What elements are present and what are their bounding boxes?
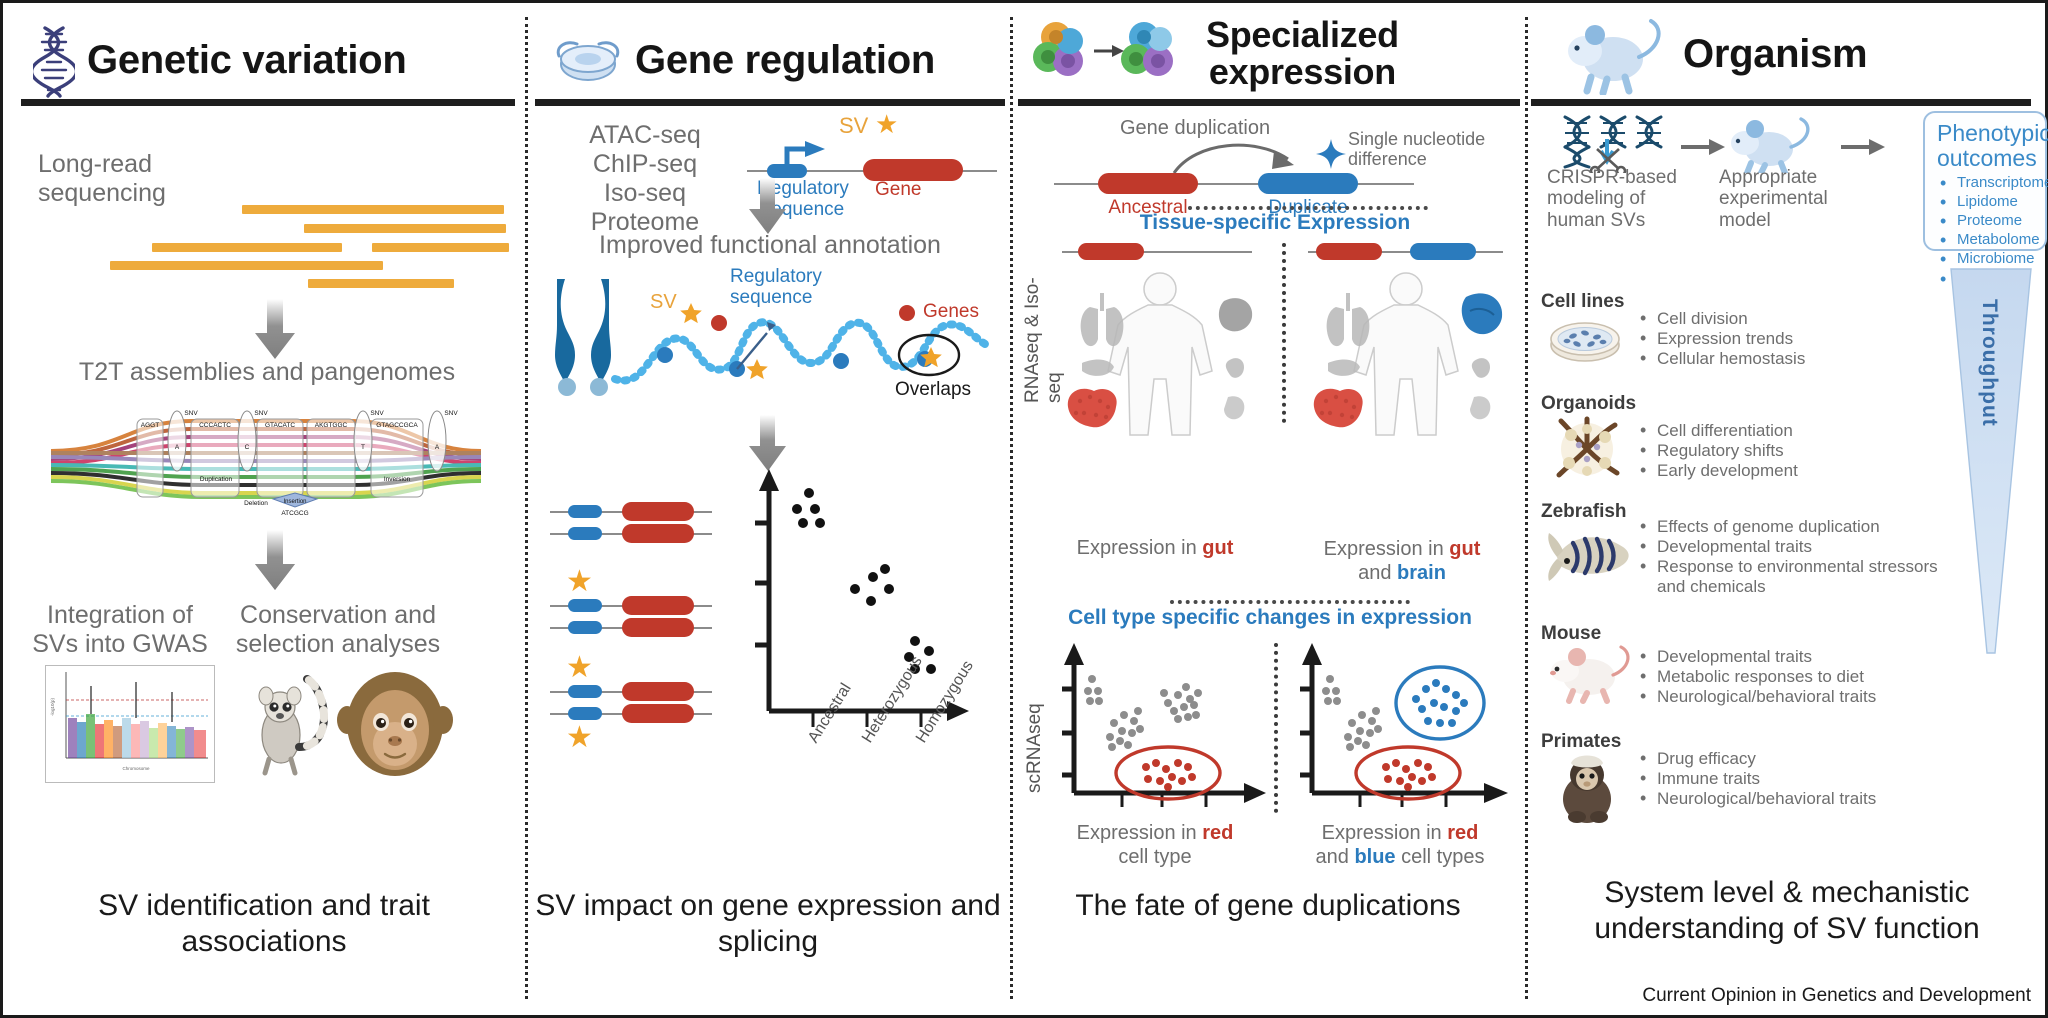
sv-star-hom-2: ★ bbox=[566, 723, 593, 753]
assay-atac-seq: ATAC-seq bbox=[555, 121, 735, 150]
celltype-specific-header: Cell type specific changes in expression bbox=[1030, 606, 1510, 630]
svg-text:Chromosome: Chromosome bbox=[122, 766, 150, 771]
list-item: Metabolic responses to diet bbox=[1637, 667, 1967, 687]
right-celltype-caption: Expression in red and blue cell types bbox=[1282, 821, 1518, 869]
panel-2-title: Gene regulation bbox=[635, 40, 935, 81]
ancestral-gene-box bbox=[1098, 173, 1198, 194]
system-items: Drug efficacy Immune traits Neurological… bbox=[1637, 749, 1967, 809]
svg-text:Inversion: Inversion bbox=[384, 476, 411, 483]
svg-text:SNV: SNV bbox=[444, 410, 458, 417]
step-long-read-sequencing: Long-read sequencing bbox=[38, 150, 238, 208]
panel-3-title-line2: expression bbox=[1206, 53, 1399, 90]
system-items: Effects of genome duplication Developmen… bbox=[1637, 517, 1967, 597]
snv-sparkle-icon bbox=[1316, 139, 1346, 169]
list-item: Developmental traits bbox=[1637, 647, 1967, 667]
arrow-to-gwas bbox=[248, 530, 302, 592]
list-item: Neurological/behavioral traits bbox=[1637, 789, 1967, 809]
cell-cluster-icon bbox=[1030, 15, 1190, 91]
svg-text:AKGTGGC: AKGTGGC bbox=[315, 422, 348, 429]
phenotypic-outcomes-box: Phenotypic outcomes Transcriptome Lipido… bbox=[1923, 111, 2047, 251]
sv-label-chromatin: SV bbox=[650, 291, 677, 314]
svg-text:SNV: SNV bbox=[184, 410, 198, 417]
flow-arrow-2-icon bbox=[1841, 137, 1885, 157]
arrow-to-annotation bbox=[743, 178, 793, 236]
flow-arrow-1-icon bbox=[1681, 137, 1725, 157]
panel-3-rule bbox=[1018, 99, 1520, 106]
list-item: Lipidome bbox=[1937, 192, 2033, 211]
system-items: Developmental traits Metabolic responses… bbox=[1637, 647, 1967, 707]
human-body-left-icon bbox=[1052, 267, 1267, 437]
organoid-icon bbox=[1547, 413, 1627, 483]
pangenome-graph: AGGT CCCACTC GTACATC AKGTGGC GTAGCCGCA S… bbox=[51, 393, 481, 521]
mouse-icon bbox=[1561, 15, 1671, 95]
panel-genetic-variation: Genetic variation Long-read sequencing bbox=[3, 3, 525, 1015]
tissue-column-divider bbox=[1282, 243, 1286, 423]
macaque-icon bbox=[333, 658, 458, 783]
lemur-icon bbox=[233, 663, 343, 783]
gene-box-top bbox=[863, 159, 963, 181]
list-item: Transcriptome bbox=[1937, 173, 2033, 192]
list-item: Response to environmental stressors and … bbox=[1637, 557, 1967, 597]
crispr-flow: CRISPR-based modeling of human SVs Appro… bbox=[1541, 109, 1921, 209]
svg-text:CCCACTC: CCCACTC bbox=[199, 422, 231, 429]
petri-dish-icon bbox=[1547, 311, 1623, 365]
genes-label-chromatin: Genes bbox=[923, 301, 979, 323]
haplotype-rows: ★ ★ ★ bbox=[550, 495, 740, 760]
system-organoids: Organoids bbox=[1541, 393, 1941, 493]
journal-credit: Current Opinion in Genetics and Developm… bbox=[1642, 985, 2031, 1007]
list-item: Proteome bbox=[1937, 211, 2033, 230]
tissue-section-divider bbox=[1188, 206, 1428, 210]
system-zebrafish: Zebrafish Effects of genome duplication … bbox=[1541, 501, 1961, 601]
svg-text:-log10(p): -log10(p) bbox=[50, 697, 55, 716]
step-conservation-selection: Conservation and selection analyses bbox=[223, 601, 453, 659]
panel-2-caption: SV impact on gene expression and splicin… bbox=[533, 888, 1003, 960]
system-name: Organoids bbox=[1541, 393, 1941, 415]
step-gwas-integration: Integration of SVs into GWAS bbox=[25, 601, 215, 659]
list-item: Neurological/behavioral traits bbox=[1637, 687, 1967, 707]
panel-4-header: Organism bbox=[1561, 15, 1867, 95]
svg-text:Insertion: Insertion bbox=[283, 499, 306, 505]
list-item: Cell differentiation bbox=[1637, 421, 1937, 441]
regulatory-element-box bbox=[767, 164, 807, 178]
system-name: Mouse bbox=[1541, 623, 1961, 645]
right-ancestral-gene bbox=[1316, 243, 1382, 260]
panel-specialized-expression: Specialized expression Gene duplication … bbox=[1010, 3, 1525, 1015]
panel-gene-regulation: Gene regulation ATAC-seq ChIP-seq Iso-se… bbox=[525, 3, 1010, 1015]
overlaps-label: Overlaps bbox=[895, 379, 971, 401]
zebrafish-icon bbox=[1543, 521, 1635, 583]
panel-1-rule bbox=[21, 99, 515, 106]
svg-text:A: A bbox=[435, 444, 440, 451]
panel-3-header: Specialized expression bbox=[1030, 13, 1399, 93]
celltype-section-divider bbox=[1170, 600, 1410, 604]
model-mouse-icon bbox=[1725, 115, 1817, 173]
panel-1-header: Genetic variation bbox=[33, 21, 406, 101]
list-item: Cell division bbox=[1637, 309, 1937, 329]
svg-text:A: A bbox=[175, 444, 180, 451]
svg-text:ATCGCG: ATCGCG bbox=[281, 510, 308, 517]
system-cell-lines: Cell lines Cell division Expression tren… bbox=[1541, 291, 1941, 383]
left-celltype-caption: Expression in red cell type bbox=[1040, 821, 1270, 869]
tissue-panel-right bbox=[1298, 241, 1513, 431]
svg-text:SNV: SNV bbox=[370, 410, 384, 417]
svg-text:AGGT: AGGT bbox=[141, 422, 159, 429]
assay-chip-seq: ChIP-seq bbox=[555, 150, 735, 179]
chromatin-diagram: SV Regulatory sequence Genes Overlaps bbox=[545, 271, 1005, 411]
panel-organism: Organism bbox=[1525, 3, 2048, 1015]
assay-iso-seq: Iso-seq bbox=[555, 179, 735, 208]
left-ancestral-gene bbox=[1078, 243, 1144, 260]
svg-text:GTACATC: GTACATC bbox=[265, 422, 295, 429]
list-item: Cellular hemostasis bbox=[1637, 349, 1937, 369]
sv-star-het: ★ bbox=[566, 567, 593, 597]
crispr-label: CRISPR-based modeling of human SVs bbox=[1547, 167, 1687, 231]
left-expression-caption: Expression in gut bbox=[1040, 537, 1270, 560]
sv-label-top: SV bbox=[839, 113, 868, 139]
list-item: Expression trends bbox=[1637, 329, 1937, 349]
scrnaseq-umap-right bbox=[1288, 641, 1516, 821]
regulatory-sequence-label-chromatin: Regulatory sequence bbox=[730, 267, 860, 309]
sv-star-top: ★ bbox=[875, 111, 898, 137]
sv-star-hom-1: ★ bbox=[566, 653, 593, 683]
duplicate-gene-box bbox=[1258, 173, 1358, 194]
single-nucleotide-difference-label: Single nucleotide difference bbox=[1348, 129, 1516, 169]
list-item: Regulatory shifts bbox=[1637, 441, 1937, 461]
assay-list: ATAC-seq ChIP-seq Iso-seq Proteome bbox=[555, 121, 735, 237]
throughput-label: Throughput bbox=[1977, 299, 2001, 427]
list-item: Early development bbox=[1637, 461, 1937, 481]
system-primates: Primates Drug efficacy Immune traits Neu… bbox=[1541, 731, 1961, 831]
svg-text:GTAGCCGCA: GTAGCCGCA bbox=[376, 422, 418, 429]
right-duplicate-gene bbox=[1410, 243, 1476, 260]
scrnaseq-axis-label: scRNAseq bbox=[1024, 663, 1046, 793]
arrow-to-t2t bbox=[248, 299, 302, 361]
panel-2-header: Gene regulation bbox=[553, 21, 935, 101]
crispr-dna-icon bbox=[1561, 111, 1671, 173]
svg-text:T: T bbox=[361, 444, 365, 451]
list-item: Metabolome bbox=[1937, 230, 2033, 249]
figure-root: Genetic variation Long-read sequencing bbox=[0, 0, 2048, 1018]
list-item: Developmental traits bbox=[1637, 537, 1967, 557]
system-mouse: Mouse Developmental traits Metabolic res… bbox=[1541, 623, 1961, 723]
blue-cluster-outline bbox=[1396, 667, 1484, 739]
panel-3-caption: The fate of gene duplications bbox=[1014, 888, 1522, 924]
panel-3-title: Specialized expression bbox=[1206, 16, 1399, 90]
panel-2-rule bbox=[535, 99, 1005, 106]
panel-3-title-line1: Specialized bbox=[1206, 16, 1399, 53]
system-items: Cell division Expression trends Cellular… bbox=[1637, 309, 1937, 369]
list-item: Drug efficacy bbox=[1637, 749, 1967, 769]
tissue-specific-expression-header: Tissue-specific Expression bbox=[1050, 211, 1500, 235]
svg-text:Duplication: Duplication bbox=[200, 476, 233, 483]
svg-text:C: C bbox=[245, 444, 250, 451]
panel-4-caption: System level & mechanistic understanding… bbox=[1529, 875, 2045, 947]
panel-1-caption: SV identification and trait associations bbox=[17, 888, 511, 960]
panel-4-title: Organism bbox=[1683, 34, 1867, 75]
human-body-right-icon bbox=[1298, 267, 1513, 437]
gene-label-top: Gene bbox=[875, 179, 921, 201]
dna-helix-icon bbox=[33, 24, 75, 98]
panel-4-rule bbox=[1531, 99, 2031, 106]
right-expression-caption: Expression in gut and brain bbox=[1288, 537, 1516, 585]
list-item: Effects of genome duplication bbox=[1637, 517, 1967, 537]
tissue-panel-left bbox=[1052, 241, 1267, 431]
gwas-manhattan-plot: -log10(p) Chromosome bbox=[45, 665, 215, 783]
gene-duplication-diagram: Gene duplication Single nucleotide diffe… bbox=[1030, 111, 1510, 207]
primate-icon bbox=[1551, 751, 1627, 825]
mouse-photo-icon bbox=[1547, 643, 1633, 705]
svg-text:SNV: SNV bbox=[254, 410, 268, 417]
list-item: Immune traits bbox=[1637, 769, 1967, 789]
step-improved-annotation: Improved functional annotation bbox=[535, 231, 1005, 260]
phenotypic-outcomes-title: Phenotypic outcomes bbox=[1937, 121, 2033, 171]
scrnaseq-umap-left bbox=[1050, 641, 1275, 821]
experimental-model-label: Appropriate experimental model bbox=[1719, 167, 1843, 231]
svg-text:Deletion: Deletion bbox=[244, 500, 268, 507]
panel-1-title: Genetic variation bbox=[87, 40, 406, 81]
expression-genotype-scatter: Ancestral Heterozygous Homozygous bbox=[733, 465, 978, 755]
nucleosome-icon bbox=[553, 34, 623, 88]
step-t2t-assemblies: T2T assemblies and pangenomes bbox=[27, 358, 507, 387]
system-items: Cell differentiation Regulatory shifts E… bbox=[1637, 421, 1937, 481]
